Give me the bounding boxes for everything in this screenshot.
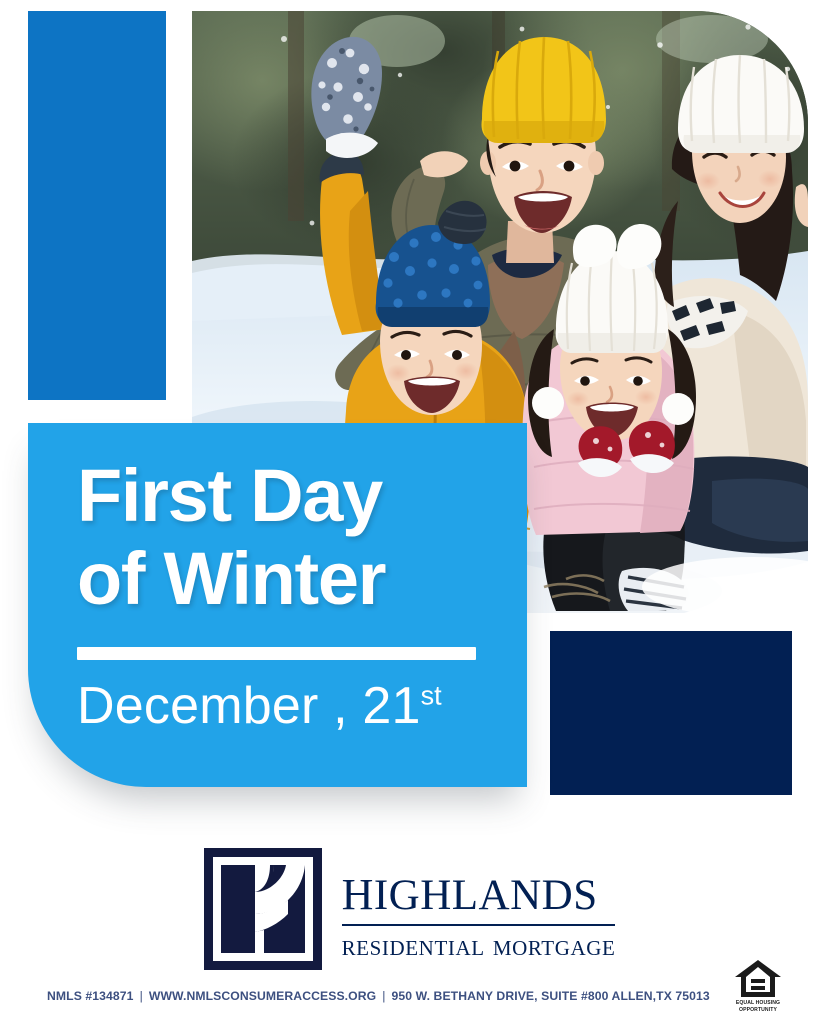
footer: NMLS #134871 | WWW.NMLSCONSUMERACCESS.OR…	[0, 976, 819, 1016]
headline-panel: First Day of Winter December , 21st	[28, 423, 527, 787]
eho-line-2: OPPORTUNITY	[736, 1007, 780, 1014]
headline-line-1: First Day	[77, 455, 503, 538]
footer-address: 950 W. BETHANY DRIVE, SUITE #800 ALLEN,T…	[392, 989, 710, 1003]
brand-logo: HIGHLANDS RESIDENTIAL MORTGAGE	[0, 845, 819, 973]
left-accent-bar	[28, 11, 166, 400]
headline-group: First Day of Winter December , 21st	[77, 455, 503, 736]
equal-housing-text: EQUAL HOUSING OPPORTUNITY	[736, 1000, 780, 1013]
footer-nmls: NMLS #134871	[47, 989, 134, 1003]
footer-website[interactable]: WWW.NMLSCONSUMERACCESS.ORG	[149, 989, 376, 1003]
equal-housing-opportunity-icon	[734, 959, 782, 999]
event-date-text: December , 21	[77, 677, 421, 735]
equal-housing-opportunity-logo: EQUAL HOUSING OPPORTUNITY	[727, 959, 789, 1017]
highlands-h-monogram-icon	[204, 848, 322, 970]
brand-name: HIGHLANDS	[342, 860, 616, 919]
headline-divider-rule	[77, 647, 476, 660]
headline-line-2: of Winter	[77, 538, 503, 621]
brand-wordmark: HIGHLANDS RESIDENTIAL MORTGAGE	[342, 856, 616, 961]
navy-accent-block	[550, 631, 792, 795]
footer-separator-1: |	[134, 989, 149, 1003]
event-date: December , 21st	[77, 676, 503, 736]
footer-disclosure: NMLS #134871 | WWW.NMLSCONSUMERACCESS.OR…	[47, 976, 710, 1016]
brand-subtitle: RESIDENTIAL MORTGAGE	[342, 929, 616, 961]
event-date-ordinal: st	[421, 680, 442, 710]
monogram-svg	[204, 848, 322, 970]
eho-line-1: EQUAL HOUSING	[736, 1000, 780, 1007]
winter-flyer: First Day of Winter December , 21st	[0, 0, 819, 1024]
brand-divider	[342, 924, 616, 926]
footer-separator-2: |	[376, 989, 391, 1003]
